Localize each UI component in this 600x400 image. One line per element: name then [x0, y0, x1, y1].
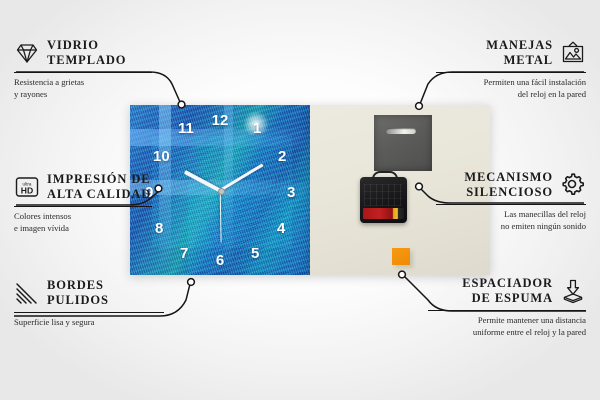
callout-title-line2: SILENCIOSO — [436, 185, 553, 200]
clock-numeral-7: 7 — [180, 246, 188, 261]
ultra-hd-icon: ultra HD — [14, 174, 40, 200]
callout-heading: ESPACIADOR DE ESPUMA — [428, 276, 586, 307]
callout-title-line1: MECANISMO — [436, 170, 553, 185]
callout-divider — [436, 204, 586, 206]
callout-title-line2: METAL — [436, 53, 553, 68]
callout-heading: ultra HD IMPRESIÓN DE ALTA CALIDAD — [14, 172, 152, 203]
callout-title-line1: IMPRESIÓN DE — [47, 172, 151, 187]
callout-title-line1: MANEJAS — [436, 38, 553, 53]
callout-title-line1: BORDES — [47, 278, 109, 293]
clock-numeral-1: 1 — [253, 121, 261, 136]
callout-heading: BORDES PULIDOS — [14, 278, 164, 309]
callout-heading: VIDRIO TEMPLADO — [14, 38, 152, 69]
clock-hub — [218, 188, 225, 195]
diamond-icon — [14, 40, 40, 66]
callout-divider — [428, 310, 586, 312]
callout-title-line2: PULIDOS — [47, 293, 109, 308]
callout-description: Las manecillas del reloj no emiten ningú… — [436, 209, 586, 232]
callout-description: Permiten una fácil instalación del reloj… — [436, 77, 586, 100]
product-clock-face: 12 1 2 3 4 5 6 7 8 9 10 11 — [130, 105, 310, 275]
mechanism-battery — [363, 208, 404, 219]
mechanism-hanging-loop — [372, 171, 398, 182]
clock-numeral-4: 4 — [277, 221, 285, 236]
callout-description: Permite mantener una distancia uniforme … — [428, 315, 586, 338]
clock-numeral-6: 6 — [216, 253, 224, 268]
callout-title-line2: DE ESPUMA — [428, 291, 553, 306]
callout-title-line1: VIDRIO — [47, 38, 126, 53]
clock-numeral-8: 8 — [155, 221, 163, 236]
callout-manejas-metal[interactable]: MANEJAS METAL Permiten una fácil instala… — [436, 38, 586, 100]
callout-vidrio-templado[interactable]: VIDRIO TEMPLADO Resistencia a grietas y … — [14, 38, 152, 100]
callout-espaciador-de-espuma[interactable]: ESPACIADOR DE ESPUMA Permite mantener un… — [428, 276, 586, 338]
hanger-slot — [386, 128, 416, 134]
callout-divider — [14, 72, 152, 74]
callout-description: Resistencia a grietas y rayones — [14, 77, 152, 100]
clock-mechanism-box — [360, 177, 407, 223]
foam-spacer-pad — [392, 248, 410, 265]
infographic-canvas: 12 1 2 3 4 5 6 7 8 9 10 11 — [0, 0, 600, 400]
callout-description: Superficie lisa y segura — [14, 317, 164, 329]
callout-title-line2: ALTA CALIDAD — [47, 187, 151, 202]
callout-bordes-pulidos[interactable]: BORDES PULIDOS Superficie lisa y segura — [14, 278, 164, 329]
foam-spacer-arrow-icon — [560, 278, 586, 304]
callout-divider — [436, 72, 586, 74]
clock-numeral-3: 3 — [287, 185, 295, 200]
mechanism-detail — [364, 184, 402, 206]
callout-impresion-alta-calidad[interactable]: ultra HD IMPRESIÓN DE ALTA CALIDAD Color… — [14, 172, 152, 234]
clock-numeral-2: 2 — [278, 149, 286, 164]
picture-frame-hook-icon — [560, 40, 586, 66]
gear-icon — [560, 172, 586, 198]
callout-divider — [14, 312, 164, 314]
callout-mecanismo-silencioso[interactable]: MECANISMO SILENCIOSO Las manecillas del … — [436, 170, 586, 232]
callout-title-line1: ESPACIADOR — [428, 276, 553, 291]
svg-text:HD: HD — [21, 186, 33, 196]
callout-description: Colores intensos e imagen vívida — [14, 211, 152, 234]
callout-divider — [14, 206, 152, 208]
metal-hanger-plate — [374, 115, 432, 171]
callout-heading: MANEJAS METAL — [436, 38, 586, 69]
clock-numeral-12: 12 — [212, 113, 229, 128]
clock-numeral-10: 10 — [153, 149, 170, 164]
callout-heading: MECANISMO SILENCIOSO — [436, 170, 586, 201]
clock-numeral-11: 11 — [178, 121, 194, 136]
polished-edges-icon — [14, 280, 40, 306]
callout-title-line2: TEMPLADO — [47, 53, 126, 68]
clock-numeral-5: 5 — [251, 246, 259, 261]
